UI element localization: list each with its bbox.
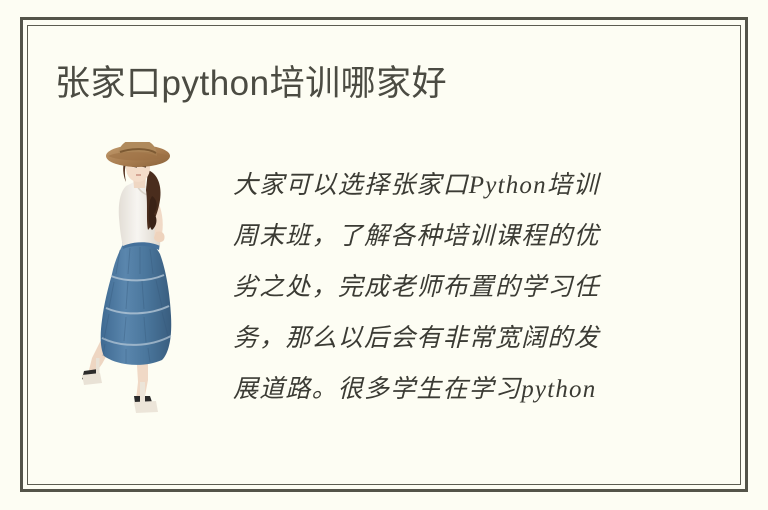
article-body: 大家可以选择张家口Python培训 周末班，了解各种培训课程的优 劣之处，完成老… <box>233 160 653 415</box>
article-line: 劣之处，完成老师布置的学习任 <box>233 262 653 313</box>
model-illustration <box>78 142 203 430</box>
article-line: 周末班，了解各种培训课程的优 <box>233 211 653 262</box>
article-line: 展道路。很多学生在学习python <box>233 364 653 415</box>
article-card: 张家口python培训哪家好 <box>0 0 768 510</box>
article-line: 务，那么以后会有非常宽阔的发 <box>233 313 653 364</box>
model-photo <box>78 142 203 430</box>
page-title: 张家口python培训哪家好 <box>55 62 447 106</box>
article-line: 大家可以选择张家口Python培训 <box>233 160 653 211</box>
